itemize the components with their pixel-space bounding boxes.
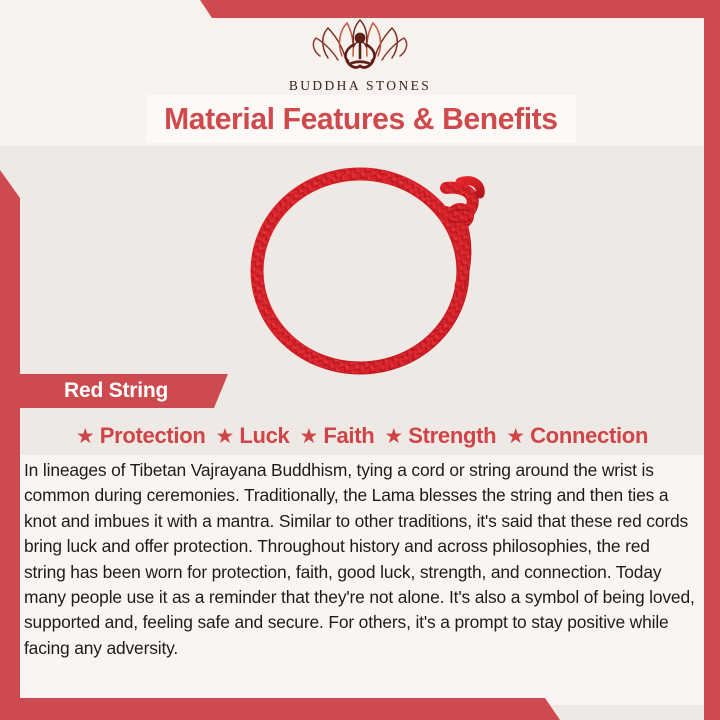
star-icon: ★ xyxy=(216,426,235,447)
decor-band-left xyxy=(0,170,20,720)
decor-band-right xyxy=(704,14,720,720)
infographic-page: BUDDHA STONES Material Features & Benefi… xyxy=(0,0,720,720)
decor-band-bottom xyxy=(0,698,560,720)
benefit-label: Protection xyxy=(100,423,206,449)
product-image xyxy=(232,158,498,380)
benefit-item: ★ Protection xyxy=(76,423,206,449)
brand-logo: BUDDHA STONES xyxy=(0,14,720,94)
title-banner: Material Features & Benefits xyxy=(146,95,576,143)
benefit-item: ★ Faith xyxy=(300,423,375,449)
benefit-item: ★ Luck xyxy=(216,423,290,449)
product-name-banner: Red String xyxy=(18,374,228,408)
benefit-label: Connection xyxy=(530,423,648,449)
product-name-label: Red String xyxy=(64,379,168,403)
benefits-list: ★ Protection ★ Luck ★ Faith ★ Strength ★… xyxy=(20,418,704,454)
benefit-item: ★ Strength xyxy=(384,423,496,449)
description-text: In lineages of Tibetan Vajrayana Buddhis… xyxy=(24,458,696,661)
benefit-label: Strength xyxy=(408,423,496,449)
page-title: Material Features & Benefits xyxy=(164,101,558,137)
benefit-item: ★ Connection xyxy=(506,423,648,449)
brand-name: BUDDHA STONES xyxy=(289,78,431,94)
lotus-meditation-icon xyxy=(306,14,414,76)
star-icon: ★ xyxy=(76,426,95,447)
benefit-label: Luck xyxy=(239,423,289,449)
benefit-label: Faith xyxy=(323,423,374,449)
star-icon: ★ xyxy=(300,426,319,447)
star-icon: ★ xyxy=(506,426,525,447)
star-icon: ★ xyxy=(384,426,403,447)
